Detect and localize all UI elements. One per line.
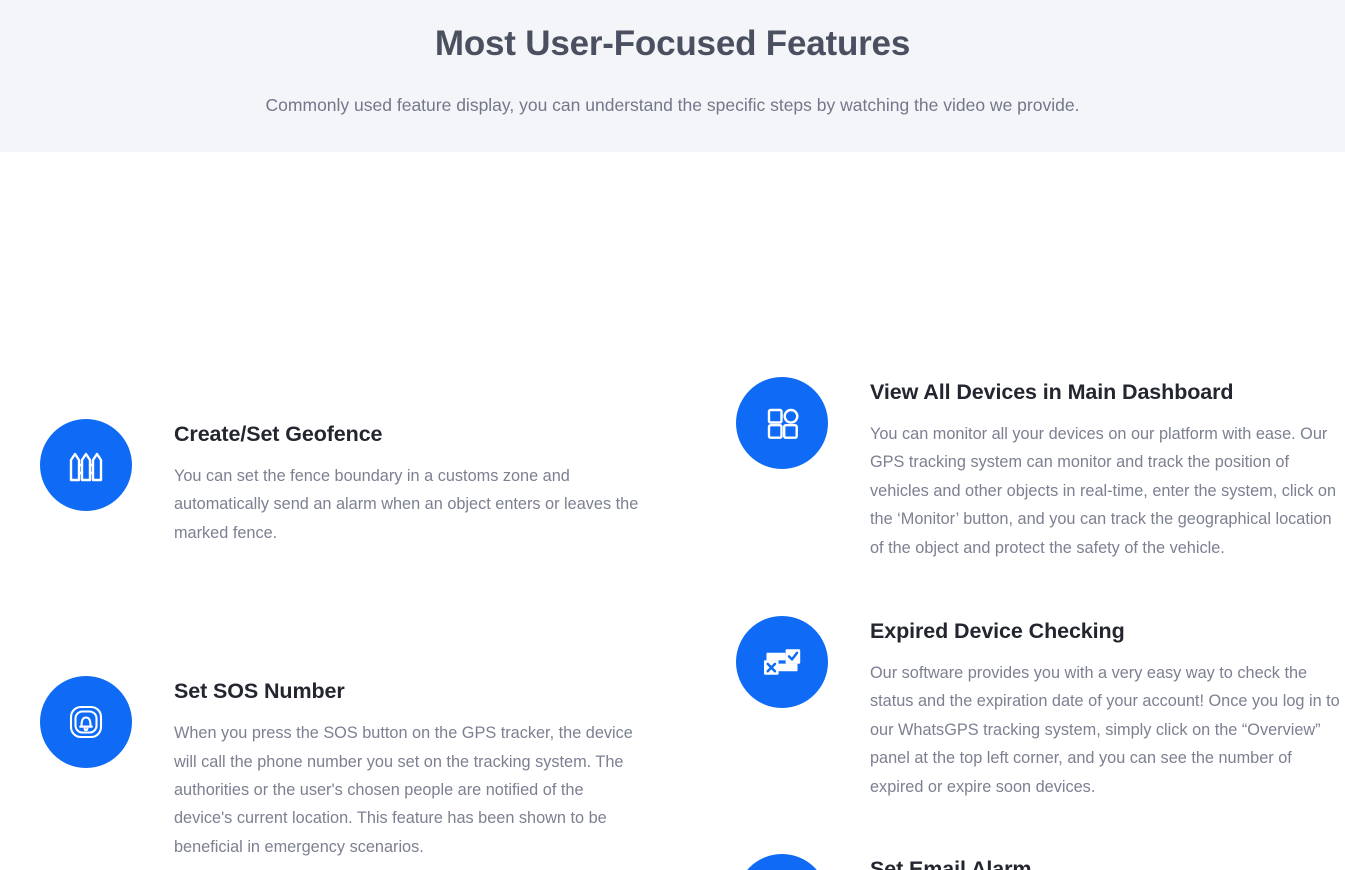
feature-title: Expired Device Checking — [870, 616, 1340, 646]
envelope-bell-icon — [736, 854, 828, 870]
feature-title: Create/Set Geofence — [174, 419, 644, 449]
feature-body: Expired Device Checking Our software pro… — [828, 616, 1340, 801]
features-column-left: Create/Set Geofence You can set the fenc… — [0, 152, 649, 870]
features-column-right: View All Devices in Main Dashboard You c… — [696, 152, 1345, 870]
feature-body: Create/Set Geofence You can set the fenc… — [132, 419, 644, 547]
feature-title: Set Email Alarm — [870, 854, 1340, 870]
features-grid: Create/Set Geofence You can set the fenc… — [0, 152, 1345, 870]
feature-title: View All Devices in Main Dashboard — [870, 377, 1340, 407]
page-title: Most User-Focused Features — [0, 16, 1345, 67]
feature-body: View All Devices in Main Dashboard You c… — [828, 377, 1340, 562]
feature-description: You can set the fence boundary in a cust… — [174, 449, 644, 547]
feature-body: Set Email Alarm SEEWORLD GPS tracking de… — [828, 854, 1340, 870]
feature-description: Our software provides you with a very ea… — [870, 646, 1340, 801]
feature-item-set-sos-number[interactable]: Set SOS Number When you press the SOS bu… — [40, 676, 649, 861]
features-section: Create/Set Geofence You can set the fenc… — [0, 152, 1345, 870]
feature-title: Set SOS Number — [174, 676, 644, 706]
page-subtitle: Commonly used feature display, you can u… — [0, 67, 1345, 119]
hero-section: Most User-Focused Features Commonly used… — [0, 0, 1345, 152]
feature-description: You can monitor all your devices on our … — [870, 407, 1340, 562]
sos-bell-icon — [40, 676, 132, 768]
feature-description: When you press the SOS button on the GPS… — [174, 706, 644, 861]
feature-item-create-set-geofence[interactable]: Create/Set Geofence You can set the fenc… — [40, 419, 649, 547]
dashboard-grid-icon — [736, 377, 828, 469]
feature-item-view-all-devices-in-main-dashboard[interactable]: View All Devices in Main Dashboard You c… — [736, 377, 1345, 562]
fence-icon — [40, 419, 132, 511]
feature-body: Set SOS Number When you press the SOS bu… — [132, 676, 644, 861]
checklist-status-icon — [736, 616, 828, 708]
feature-item-set-email-alarm[interactable]: Set Email Alarm SEEWORLD GPS tracking de… — [736, 854, 1345, 870]
feature-item-expired-device-checking[interactable]: Expired Device Checking Our software pro… — [736, 616, 1345, 801]
